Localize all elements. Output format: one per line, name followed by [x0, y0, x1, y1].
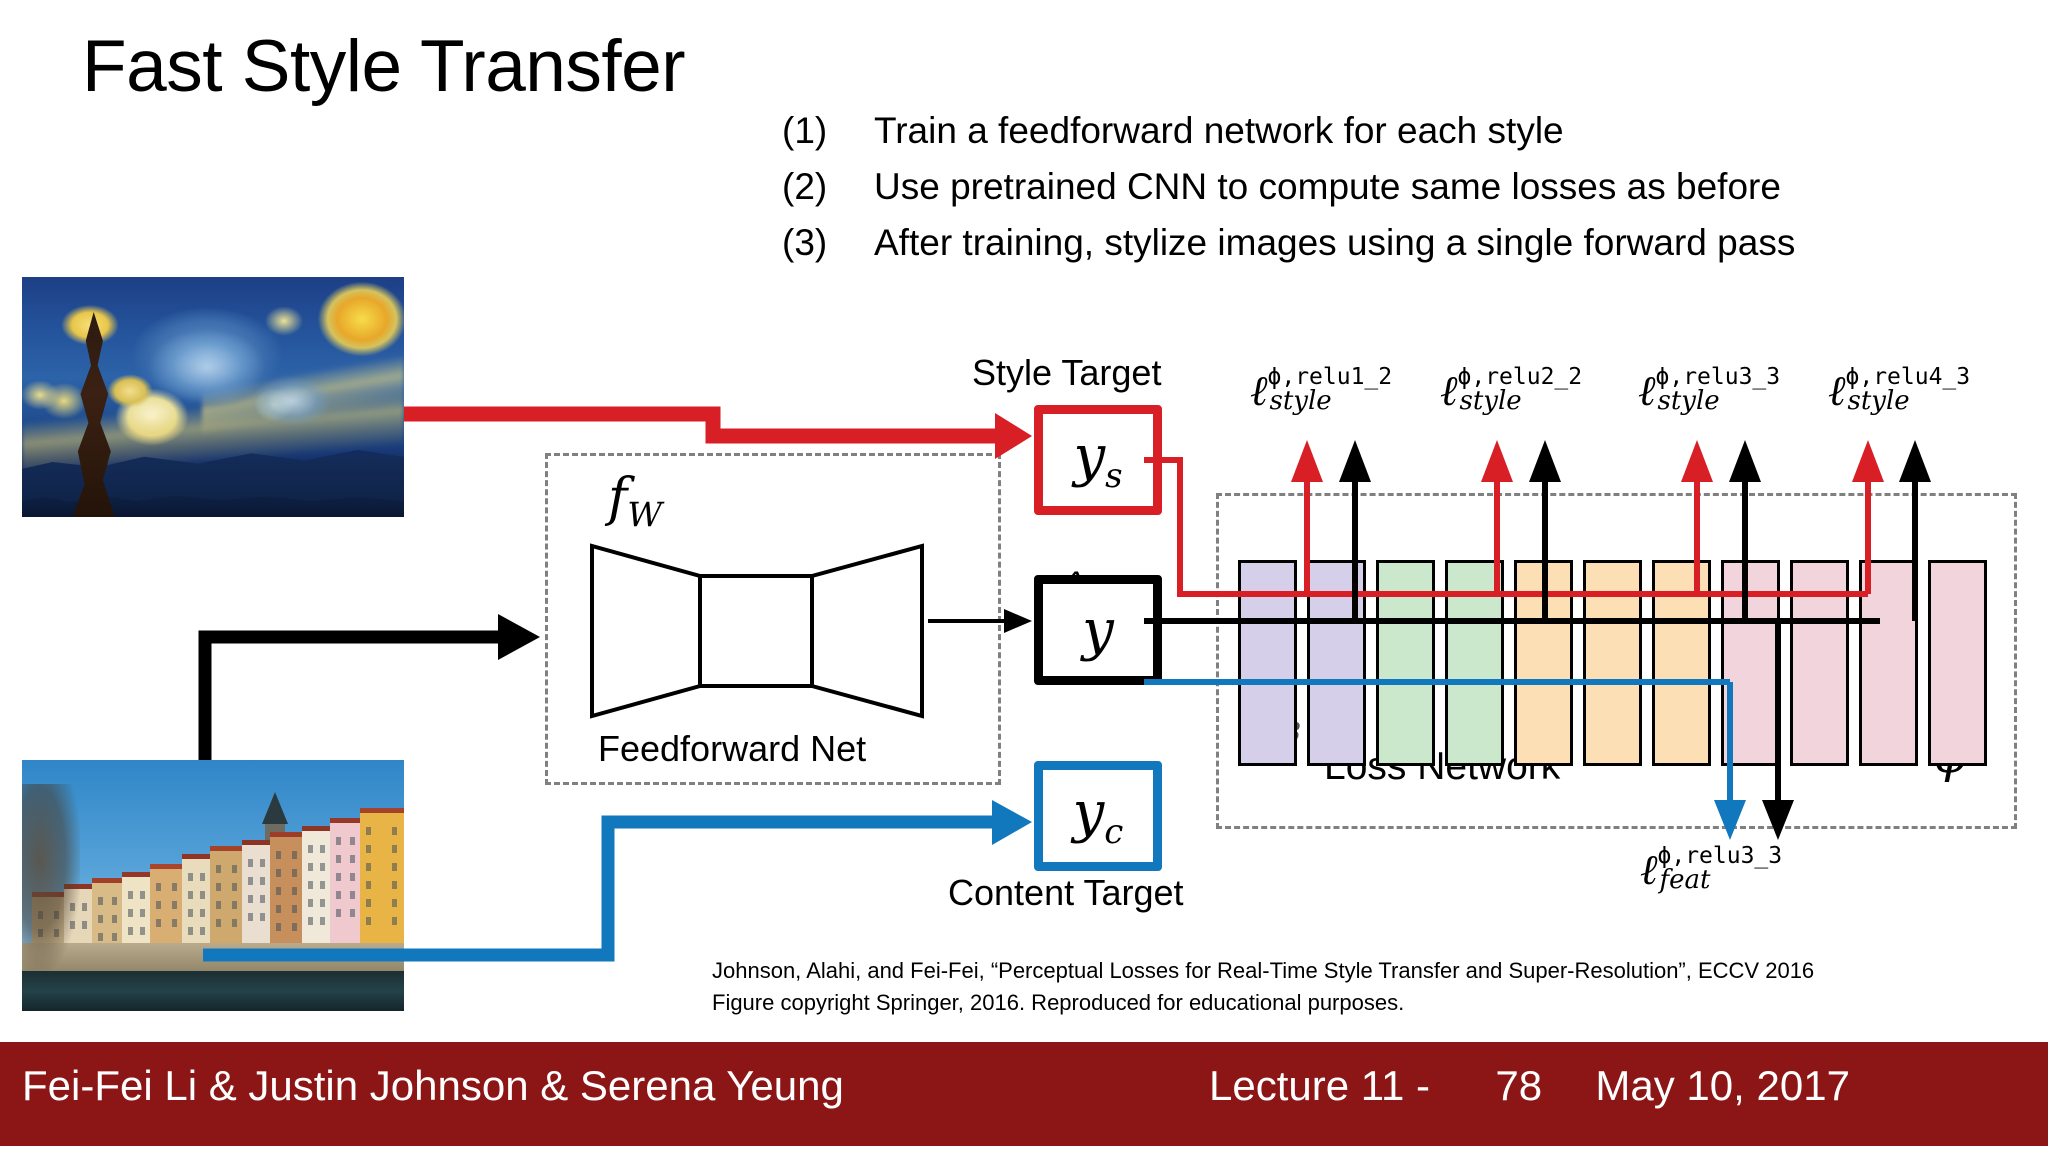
tuebingen-window	[350, 909, 355, 917]
tuebingen-window	[232, 883, 237, 891]
tuebingen-window	[98, 933, 103, 941]
tuebingen-window	[392, 899, 397, 907]
yhat-box: ̂y	[1034, 575, 1162, 685]
tuebingen-window	[276, 869, 281, 877]
style-loss-label-4: ℓϕ,relu4_3style	[1828, 366, 1970, 416]
page-title: Fast Style Transfer	[82, 30, 685, 103]
citation-line-2: Figure copyright Springer, 2016. Reprodu…	[712, 987, 1814, 1019]
tuebingen-window	[276, 851, 281, 859]
content-target-box: yc	[1034, 761, 1162, 871]
ys-symbol: ys	[1073, 424, 1122, 496]
bullet-text: Use pretrained CNN to compute same losse…	[874, 166, 1781, 208]
tuebingen-window	[82, 921, 87, 929]
tuebingen-window	[248, 913, 253, 921]
tuebingen-window	[320, 863, 325, 871]
tuebingen-window	[172, 919, 177, 927]
tuebingen-window	[188, 873, 193, 881]
style-source-image	[22, 277, 404, 517]
tuebingen-window	[128, 927, 133, 935]
tuebingen-window	[308, 917, 313, 925]
list-item: (3) After training, stylize images using…	[782, 222, 2042, 264]
tuebingen-window	[188, 891, 193, 899]
tuebingen-window	[216, 865, 221, 873]
loss-network-block	[1445, 560, 1504, 766]
tuebingen-house	[330, 818, 362, 949]
tuebingen-window	[260, 877, 265, 885]
citation: Johnson, Alahi, and Fei-Fei, “Perceptual…	[712, 955, 1814, 1019]
tuebingen-window	[292, 887, 297, 895]
tuebingen-window	[276, 887, 281, 895]
tuebingen-window	[350, 855, 355, 863]
bullet-text: After training, stylize images using a s…	[874, 222, 1795, 264]
tuebingen-window	[320, 881, 325, 889]
tuebingen-house	[210, 846, 244, 949]
tuebingen-window	[336, 837, 341, 845]
tuebingen-window	[292, 923, 297, 931]
yc-symbol: yc	[1073, 780, 1124, 852]
bullet-number: (3)	[782, 222, 874, 264]
content-source-image	[22, 760, 404, 1011]
tuebingen-window	[156, 883, 161, 891]
tuebingen-window	[276, 905, 281, 913]
list-item: (2) Use pretrained CNN to compute same l…	[782, 166, 2042, 208]
style-loss-label-1: ℓϕ,relu1_2style	[1250, 366, 1392, 416]
tuebingen-window	[128, 909, 133, 917]
yhat-symbol: ̂y	[1082, 598, 1114, 663]
tuebingen-window	[216, 883, 221, 891]
tuebingen-window	[366, 881, 371, 889]
tuebingen-window	[350, 837, 355, 845]
starry-night-swirl-2	[237, 365, 347, 437]
tuebingen-house	[360, 808, 404, 949]
tuebingen-window	[128, 891, 133, 899]
tuebingen-window	[248, 859, 253, 867]
tuebingen-window	[308, 845, 313, 853]
tuebingen-window	[232, 901, 237, 909]
tuebingen-window	[336, 891, 341, 899]
tuebingen-window	[292, 851, 297, 859]
feat-loss-label: ℓϕ,relu3_3feat	[1640, 845, 1782, 895]
style-target-box: ys	[1034, 405, 1162, 515]
tuebingen-river	[22, 971, 404, 1011]
tuebingen-window	[308, 863, 313, 871]
tuebingen-window	[366, 827, 371, 835]
list-item: (1) Train a feedforward network for each…	[782, 110, 2042, 152]
tuebingen-window	[112, 915, 117, 923]
tuebingen-window	[366, 845, 371, 853]
footer-date: May 10, 2017	[1595, 1062, 1850, 1109]
tuebingen-window	[350, 891, 355, 899]
tuebingen-house	[150, 864, 184, 949]
tuebingen-tree	[22, 784, 80, 971]
tuebingen-window	[276, 923, 281, 931]
tuebingen-window	[248, 895, 253, 903]
footer-bar: Fei-Fei Li & Justin Johnson & Serena Yeu…	[0, 1042, 2048, 1146]
tuebingen-window	[320, 899, 325, 907]
feedforward-net-label: Feedforward Net	[598, 728, 866, 770]
slide-canvas: Fast Style Transfer (1) Train a feedforw…	[0, 0, 2048, 1160]
tuebingen-house	[122, 872, 152, 949]
tuebingen-window	[320, 917, 325, 925]
tuebingen-window	[200, 927, 205, 935]
tuebingen-window	[260, 859, 265, 867]
tuebingen-window	[350, 873, 355, 881]
tuebingen-window	[140, 927, 145, 935]
tuebingen-window	[392, 917, 397, 925]
tuebingen-window	[98, 897, 103, 905]
tuebingen-house	[302, 826, 332, 949]
bullet-list: (1) Train a feedforward network for each…	[782, 110, 2042, 278]
loss-network-block	[1238, 560, 1297, 766]
footer-meta: Lecture 11 - 78 May 10, 2017	[1205, 1062, 1854, 1110]
bullet-text: Train a feedforward network for each sty…	[874, 110, 1564, 152]
tuebingen-window	[366, 863, 371, 871]
tuebingen-window	[140, 909, 145, 917]
style-loss-label-3: ℓϕ,relu3_3style	[1638, 366, 1780, 416]
tuebingen-window	[140, 891, 145, 899]
tuebingen-window	[188, 927, 193, 935]
tuebingen-window	[200, 873, 205, 881]
tuebingen-window	[292, 905, 297, 913]
loss-network-block	[1376, 560, 1435, 766]
loss-network-block	[1790, 560, 1849, 766]
tuebingen-house	[182, 854, 212, 949]
tuebingen-window	[156, 901, 161, 909]
tuebingen-window	[112, 933, 117, 941]
loss-network-block	[1307, 560, 1366, 766]
loss-network-block	[1652, 560, 1711, 766]
tuebingen-window	[232, 865, 237, 873]
tuebingen-window	[392, 863, 397, 871]
footer-authors: Fei-Fei Li & Justin Johnson & Serena Yeu…	[22, 1062, 844, 1110]
tuebingen-window	[336, 855, 341, 863]
tuebingen-window	[232, 919, 237, 927]
tuebingen-window	[392, 881, 397, 889]
footer-lecture: Lecture 11 -	[1209, 1062, 1430, 1109]
tuebingen-house	[92, 878, 124, 949]
tuebingen-window	[366, 899, 371, 907]
tuebingen-window	[156, 919, 161, 927]
tuebingen-window	[172, 901, 177, 909]
tuebingen-window	[260, 895, 265, 903]
footer-page: 78	[1495, 1062, 1542, 1109]
tuebingen-window	[216, 919, 221, 927]
tuebingen-window	[292, 869, 297, 877]
tuebingen-window	[308, 881, 313, 889]
tuebingen-window	[200, 891, 205, 899]
tuebingen-window	[392, 845, 397, 853]
tuebingen-window	[308, 899, 313, 907]
style-loss-arrowheads-black	[1339, 440, 1931, 482]
content-to-network-arrow	[205, 614, 540, 760]
tuebingen-window	[260, 913, 265, 921]
fw-label: fW	[608, 468, 662, 535]
tuebingen-window	[392, 827, 397, 835]
bullet-number: (1)	[782, 110, 874, 152]
citation-line-1: Johnson, Alahi, and Fei-Fei, “Perceptual…	[712, 955, 1814, 987]
tuebingen-window	[366, 917, 371, 925]
bullet-number: (2)	[782, 166, 874, 208]
style-loss-arrowheads-red	[1291, 440, 1884, 482]
tuebingen-window	[112, 897, 117, 905]
loss-network-block	[1583, 560, 1642, 766]
tuebingen-window	[82, 903, 87, 911]
tuebingen-window	[336, 909, 341, 917]
tuebingen-window	[248, 877, 253, 885]
tuebingen-house	[270, 832, 304, 949]
tuebingen-house	[242, 840, 272, 949]
style-loss-label-2: ℓϕ,relu2_2style	[1440, 366, 1582, 416]
loss-network-block	[1859, 560, 1918, 766]
tuebingen-window	[336, 873, 341, 881]
loss-network-block	[1514, 560, 1573, 766]
loss-network-block	[1721, 560, 1780, 766]
tuebingen-window	[216, 901, 221, 909]
tuebingen-window	[188, 909, 193, 917]
tuebingen-window	[98, 915, 103, 923]
loss-network-block	[1928, 560, 1987, 766]
tuebingen-window	[320, 845, 325, 853]
tuebingen-window	[200, 909, 205, 917]
tuebingen-window	[172, 883, 177, 891]
content-target-label: Content Target	[948, 872, 1184, 914]
style-target-label: Style Target	[972, 352, 1161, 394]
